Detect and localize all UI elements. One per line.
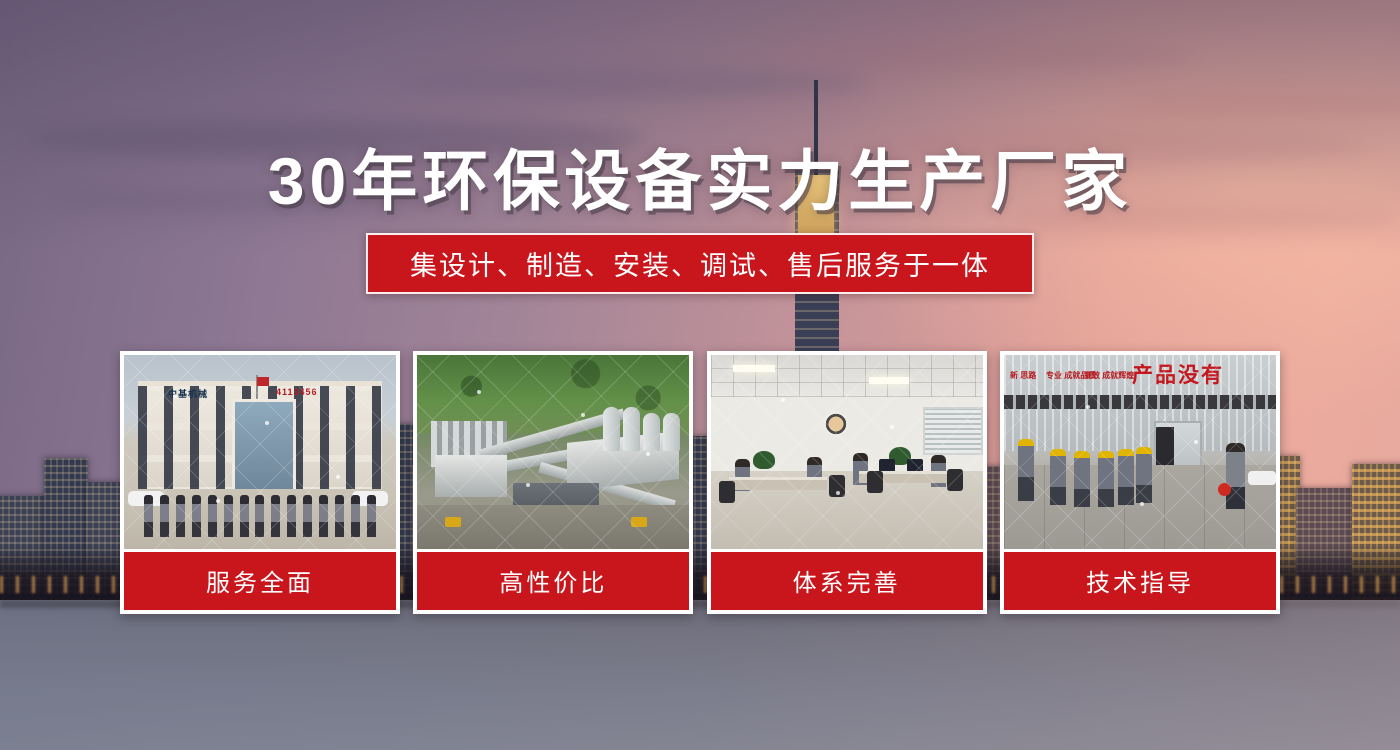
page-title: 30年环保设备实力生产厂家 — [0, 128, 1400, 224]
card-caption: 高性价比 — [417, 549, 689, 610]
building-phone-text: 4113456 — [276, 387, 318, 397]
promo-banner: 30年环保设备实力生产厂家 集设计、制造、安装、调试、售后服务于一体 中基机械 … — [0, 0, 1400, 750]
workshop-training-photo: 产品没有 新 思路 专业 成就品质 高效 成就辉煌 — [1004, 355, 1276, 549]
factory-sign-text: 产品没有 — [1132, 359, 1224, 389]
feature-card[interactable]: 高性价比 — [413, 351, 693, 614]
card-caption: 体系完善 — [711, 549, 983, 610]
cloud-band-icon — [392, 68, 868, 98]
company-headquarters-photo: 中基机械 4113456 — [124, 355, 396, 549]
aerial-plant-photo — [417, 355, 689, 549]
feature-card[interactable]: 产品没有 新 思路 专业 成就品质 高效 成就辉煌 技术指导 — [1000, 351, 1280, 614]
card-caption: 服务全面 — [124, 549, 396, 610]
red-helmet-icon — [1218, 483, 1231, 496]
building-sign-text: 中基机械 — [168, 387, 208, 400]
feature-card-list: 中基机械 4113456 服务全面 — [120, 351, 1280, 614]
factory-slogan-text: 高效 成就辉煌 — [1084, 371, 1134, 381]
feature-card[interactable]: 中基机械 4113456 服务全面 — [120, 351, 400, 614]
cloud-band-icon — [770, 38, 1190, 72]
feature-card[interactable]: 体系完善 — [707, 351, 987, 614]
office-interior-photo — [711, 355, 983, 549]
card-caption: 技术指导 — [1004, 549, 1276, 610]
factory-slogan-text: 新 思路 — [1010, 371, 1036, 381]
water-reflection — [0, 600, 1400, 750]
subtitle-bar: 集设计、制造、安装、调试、售后服务于一体 — [366, 233, 1034, 294]
